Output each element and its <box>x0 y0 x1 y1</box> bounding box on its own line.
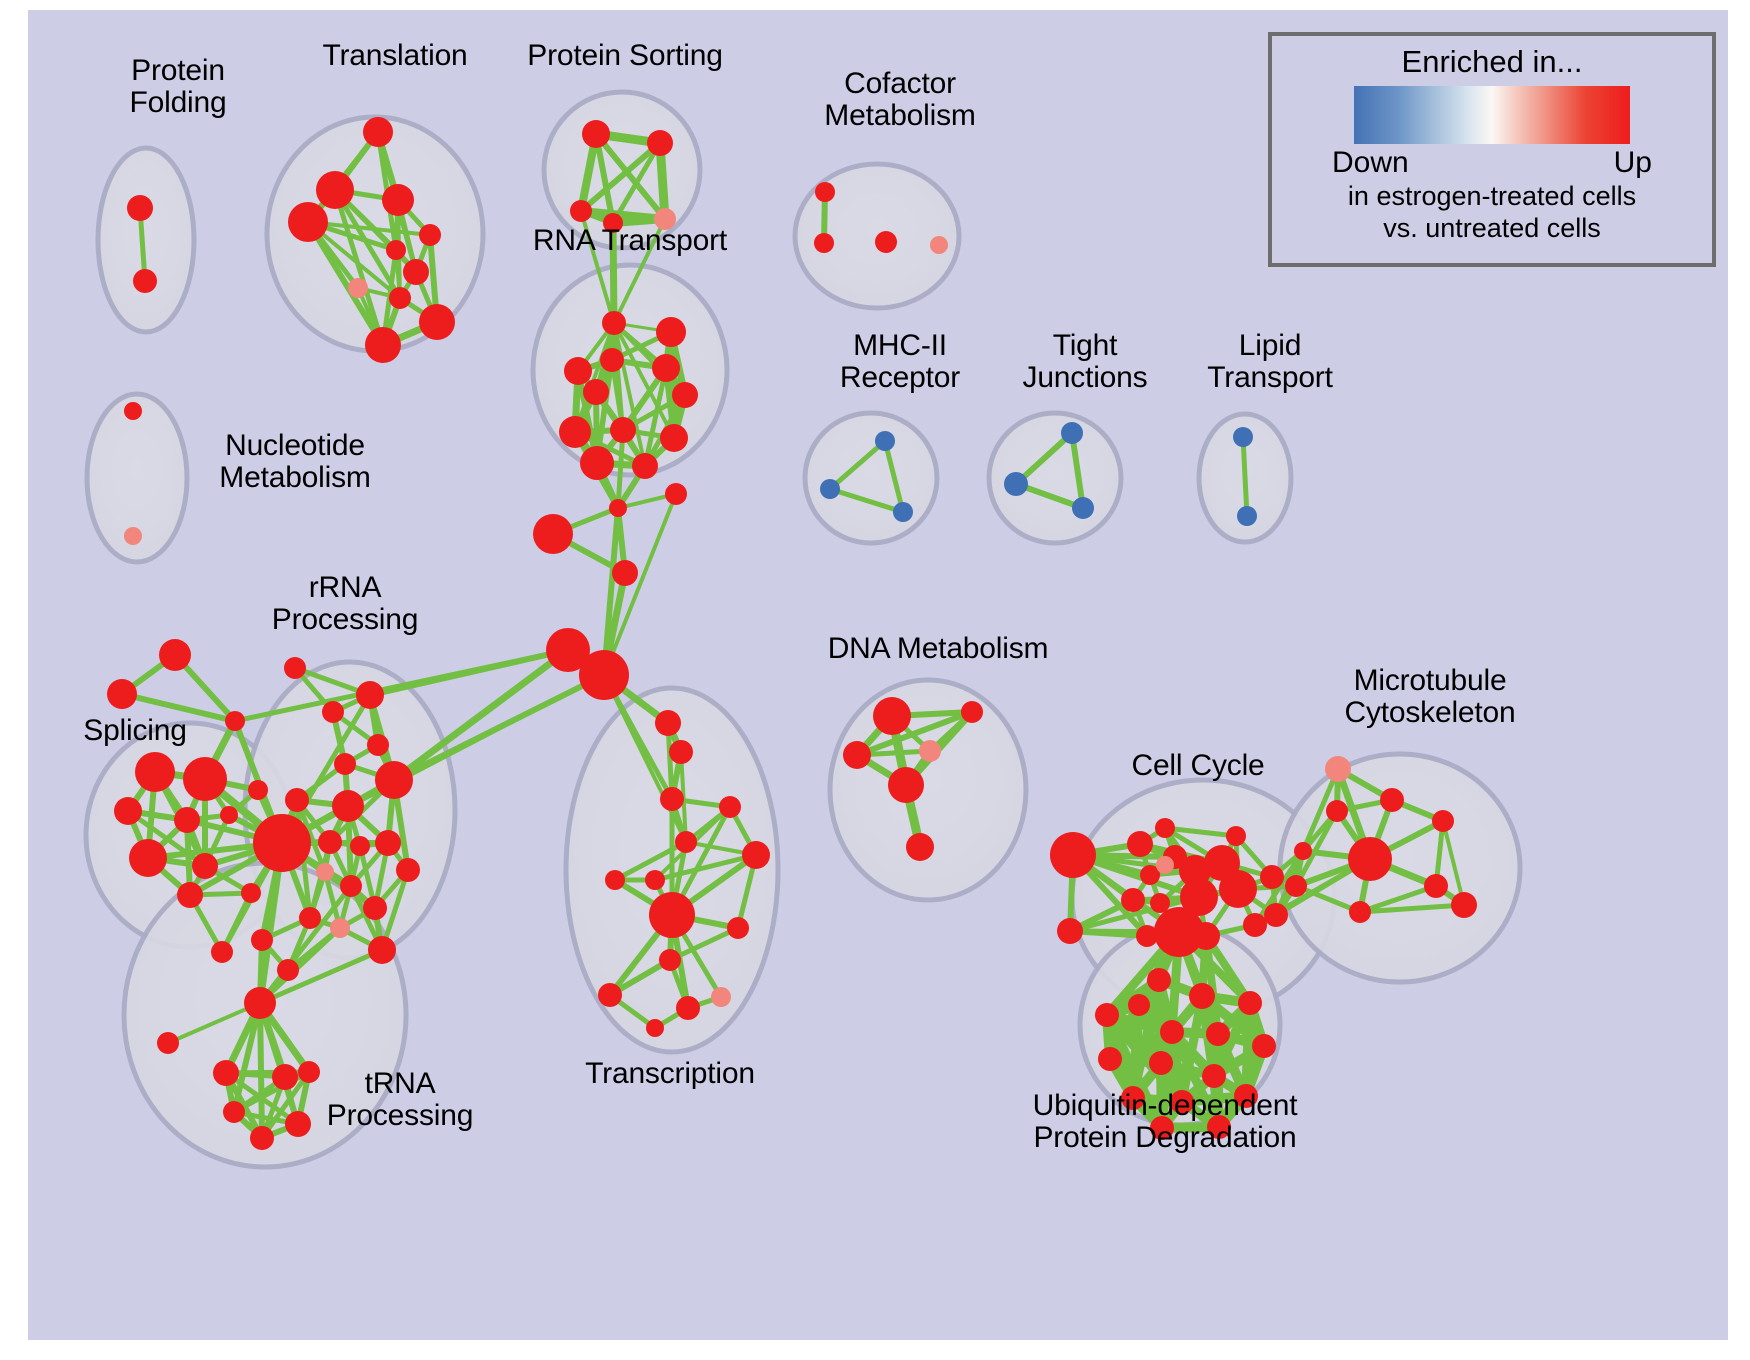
network-node[interactable] <box>124 527 142 545</box>
network-node[interactable] <box>389 287 411 309</box>
network-node[interactable] <box>365 327 401 363</box>
network-node[interactable] <box>183 757 227 801</box>
legend-caption-line1: in estrogen-treated cells <box>1348 181 1636 212</box>
network-node[interactable] <box>919 740 941 762</box>
network-node[interactable] <box>419 224 441 246</box>
network-node[interactable] <box>334 753 356 775</box>
network-node[interactable] <box>583 379 609 405</box>
network-node[interactable] <box>174 807 200 833</box>
network-node[interactable] <box>159 639 191 671</box>
cluster-label-protein-sorting: Protein Sorting <box>500 40 750 72</box>
network-node[interactable] <box>1206 1022 1230 1046</box>
network-node[interactable] <box>600 348 624 372</box>
network-node[interactable] <box>241 883 261 903</box>
network-node[interactable] <box>1243 913 1267 937</box>
network-node[interactable] <box>893 502 913 522</box>
cluster-label-dna-metabolism: DNA Metabolism <box>808 633 1068 665</box>
network-node[interactable] <box>580 446 614 480</box>
network-node[interactable] <box>157 1032 179 1054</box>
network-node[interactable] <box>363 117 393 147</box>
network-node[interactable] <box>1150 893 1170 913</box>
network-node[interactable] <box>285 788 309 812</box>
network-node[interactable] <box>1202 1064 1226 1088</box>
cluster-label-ubiquitin: Ubiquitin-dependent Protein Degradation <box>985 1090 1345 1154</box>
network-node[interactable] <box>669 740 693 764</box>
network-node[interactable] <box>340 875 362 897</box>
network-node[interactable] <box>598 983 622 1007</box>
cluster-label-rrna-processing: rRNA Processing <box>245 572 445 636</box>
network-node[interactable] <box>356 681 384 709</box>
cluster-label-cofactor-metabolism: Cofactor Metabolism <box>790 68 1010 132</box>
network-node[interactable] <box>1192 922 1220 950</box>
network-node[interactable] <box>559 416 591 448</box>
network-node[interactable] <box>1285 875 1307 897</box>
network-node[interactable] <box>647 130 673 156</box>
network-node[interactable] <box>223 1101 245 1123</box>
cluster-label-trna-processing: tRNA Processing <box>300 1068 500 1132</box>
network-node[interactable] <box>656 317 686 347</box>
network-node[interactable] <box>1121 888 1145 912</box>
network-node[interactable] <box>888 767 924 803</box>
cluster-label-tight-junctions: Tight Junctions <box>985 330 1185 394</box>
network-node[interactable] <box>1349 901 1371 923</box>
network-node[interactable] <box>1004 472 1028 496</box>
network-node[interactable] <box>177 882 203 908</box>
network-node[interactable] <box>655 710 681 736</box>
network-node[interactable] <box>127 195 153 221</box>
network-node[interactable] <box>1264 903 1288 927</box>
network-node[interactable] <box>659 949 681 971</box>
network-node[interactable] <box>727 917 749 939</box>
network-node[interactable] <box>711 987 731 1007</box>
network-node[interactable] <box>602 311 626 335</box>
network-node[interactable] <box>1050 832 1096 878</box>
network-node[interactable] <box>533 514 573 554</box>
cluster-label-protein-folding: Protein Folding <box>78 55 278 119</box>
network-node[interactable] <box>1432 810 1454 832</box>
network-node[interactable] <box>299 907 321 929</box>
network-node[interactable] <box>665 483 687 505</box>
network-node[interactable] <box>1156 856 1174 874</box>
network-node[interactable] <box>1095 1003 1119 1027</box>
network-node[interactable] <box>1189 983 1215 1009</box>
network-node[interactable] <box>363 896 387 920</box>
network-node[interactable] <box>646 1019 664 1037</box>
network-node[interactable] <box>843 741 871 769</box>
network-node[interactable] <box>220 806 238 824</box>
cluster-label-lipid-transport: Lipid Transport <box>1170 330 1370 394</box>
network-node[interactable] <box>318 830 342 854</box>
network-node[interactable] <box>1155 818 1175 838</box>
network-node[interactable] <box>253 814 311 872</box>
network-node[interactable] <box>875 431 895 451</box>
network-node[interactable] <box>1325 756 1351 782</box>
network-node[interactable] <box>403 259 429 285</box>
network-node[interactable] <box>1147 968 1171 992</box>
network-node[interactable] <box>564 357 592 385</box>
network-node[interactable] <box>875 231 897 253</box>
network-node[interactable] <box>906 833 934 861</box>
network-node[interactable] <box>272 1064 298 1090</box>
network-node[interactable] <box>1061 422 1083 444</box>
network-node[interactable] <box>129 839 167 877</box>
network-node[interactable] <box>332 790 364 822</box>
network-node[interactable] <box>814 233 834 253</box>
network-node[interactable] <box>873 697 911 735</box>
network-node[interactable] <box>930 236 948 254</box>
network-node[interactable] <box>288 202 328 242</box>
network-node[interactable] <box>1149 1051 1173 1075</box>
network-node[interactable] <box>1072 497 1094 519</box>
network-node[interactable] <box>114 797 142 825</box>
network-node[interactable] <box>1226 826 1246 846</box>
network-node[interactable] <box>961 701 983 723</box>
legend-caption-line2: vs. untreated cells <box>1383 213 1601 244</box>
network-node[interactable] <box>582 120 610 148</box>
network-node[interactable] <box>133 269 157 293</box>
network-node[interactable] <box>396 858 420 882</box>
network-node[interactable] <box>368 936 396 964</box>
network-node[interactable] <box>1348 837 1392 881</box>
network-node[interactable] <box>570 200 592 222</box>
network-node[interactable] <box>348 278 368 298</box>
legend-endpoint-labels: Down Up <box>1332 146 1652 180</box>
network-node[interactable] <box>124 402 142 420</box>
legend: Enriched in... Down Up in estrogen-treat… <box>1268 32 1716 267</box>
network-node[interactable] <box>192 853 218 879</box>
network-node[interactable] <box>675 831 697 853</box>
network-node[interactable] <box>815 182 835 202</box>
network-node[interactable] <box>609 499 627 517</box>
network-node[interactable] <box>211 941 233 963</box>
network-node[interactable] <box>742 841 770 869</box>
network-node[interactable] <box>277 959 299 981</box>
cluster-blob-mhc-ii-receptor <box>805 413 937 543</box>
network-node[interactable] <box>1219 870 1257 908</box>
network-node[interactable] <box>322 701 344 723</box>
network-node[interactable] <box>316 863 334 881</box>
network-node[interactable] <box>330 918 350 938</box>
network-node[interactable] <box>375 830 401 856</box>
cluster-label-rna-transport: RNA Transport <box>510 225 750 257</box>
network-node[interactable] <box>375 761 413 799</box>
network-node[interactable] <box>1127 831 1153 857</box>
network-node[interactable] <box>244 987 276 1019</box>
network-node[interactable] <box>419 304 455 340</box>
network-node[interactable] <box>1238 991 1262 1015</box>
cluster-label-splicing: Splicing <box>55 715 215 747</box>
cluster-label-microtubule: Microtubule Cytoskeleton <box>1300 665 1560 729</box>
network-node[interactable] <box>382 184 414 216</box>
network-node[interactable] <box>1098 1047 1122 1071</box>
network-node[interactable] <box>660 787 684 811</box>
legend-color-gradient-bar <box>1354 86 1630 144</box>
legend-low-label: Down <box>1332 146 1409 180</box>
network-node[interactable] <box>660 424 688 452</box>
network-node[interactable] <box>632 453 658 479</box>
network-node[interactable] <box>1233 427 1253 447</box>
network-node[interactable] <box>612 560 638 586</box>
network-node[interactable] <box>251 929 273 951</box>
network-node[interactable] <box>719 796 741 818</box>
cluster-label-nucleotide-metabolism: Nucleotide Metabolism <box>195 430 395 494</box>
network-node[interactable] <box>135 752 175 792</box>
cluster-label-transcription: Transcription <box>565 1058 775 1090</box>
network-node[interactable] <box>1237 506 1257 526</box>
network-node[interactable] <box>1160 1020 1184 1044</box>
network-node[interactable] <box>605 870 625 890</box>
network-node[interactable] <box>248 780 268 800</box>
network-node[interactable] <box>652 354 680 382</box>
network-node[interactable] <box>1128 994 1150 1016</box>
enrichment-network-figure: Protein FoldingTranslationProtein Sortin… <box>0 0 1750 1360</box>
network-node[interactable] <box>579 650 629 700</box>
network-node[interactable] <box>350 836 370 856</box>
cluster-label-translation: Translation <box>290 40 500 72</box>
network-node[interactable] <box>225 711 245 731</box>
cluster-label-cell-cycle: Cell Cycle <box>1103 750 1293 782</box>
network-node[interactable] <box>284 657 306 679</box>
network-node[interactable] <box>386 240 406 260</box>
network-node[interactable] <box>820 479 840 499</box>
network-node[interactable] <box>1252 1034 1276 1058</box>
network-node[interactable] <box>213 1060 239 1086</box>
network-node[interactable] <box>1451 892 1477 918</box>
network-node[interactable] <box>1380 788 1404 812</box>
legend-high-label: Up <box>1614 146 1652 180</box>
network-node[interactable] <box>316 171 354 209</box>
network-node[interactable] <box>676 996 700 1020</box>
cluster-label-mhc-ii-receptor: MHC-II Receptor <box>800 330 1000 394</box>
network-node[interactable] <box>1260 865 1284 889</box>
network-node[interactable] <box>1057 918 1083 944</box>
network-node[interactable] <box>649 892 695 938</box>
network-node[interactable] <box>645 870 665 890</box>
network-node[interactable] <box>367 734 389 756</box>
network-node[interactable] <box>1294 842 1312 860</box>
network-node[interactable] <box>1326 800 1348 822</box>
network-node[interactable] <box>672 382 698 408</box>
network-node[interactable] <box>610 417 636 443</box>
cluster-blob-protein-folding <box>98 148 194 332</box>
network-node[interactable] <box>107 679 137 709</box>
legend-title: Enriched in... <box>1402 44 1583 80</box>
network-node[interactable] <box>1424 874 1448 898</box>
network-node[interactable] <box>250 1126 274 1150</box>
